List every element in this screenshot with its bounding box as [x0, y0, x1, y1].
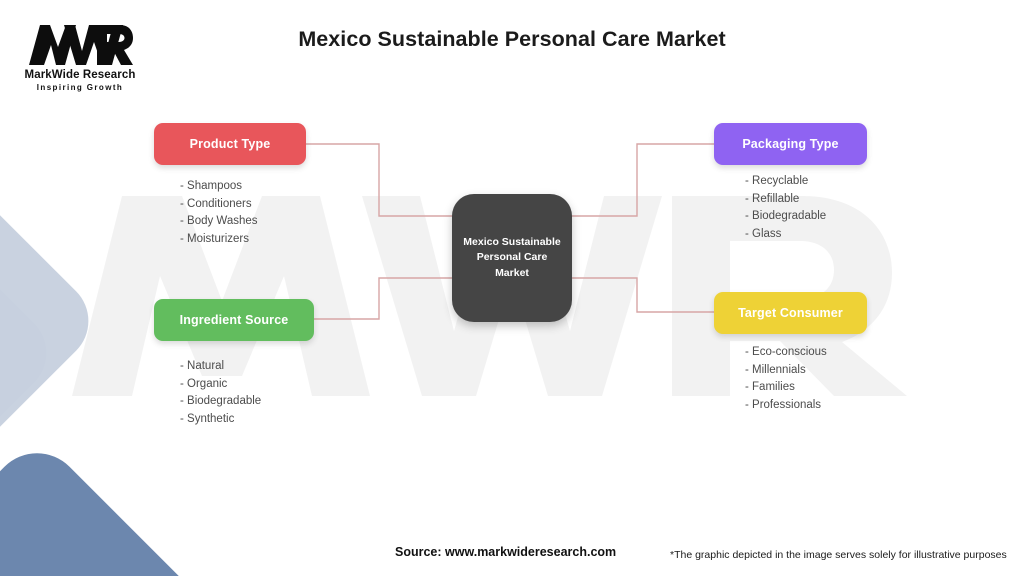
list-item: - Moisturizers — [180, 231, 258, 249]
list-item: - Millennials — [745, 362, 827, 380]
center-node-label: Mexico Sustainable Personal Care Market — [452, 235, 572, 281]
list-item: - Glass — [745, 226, 826, 244]
list-item: - Organic — [180, 376, 261, 394]
list-item: - Families — [745, 379, 827, 397]
list-item: - Body Washes — [180, 213, 258, 231]
list-item: - Recyclable — [745, 173, 826, 191]
branch-label-packaging-type: Packaging Type — [742, 137, 838, 151]
list-item: - Refillable — [745, 191, 826, 209]
list-item: - Natural — [180, 358, 261, 376]
diagram-canvas: MarkWide Research Inspiring Growth Mexic… — [0, 0, 1024, 576]
footer-source: Source: www.markwideresearch.com — [395, 545, 616, 559]
connector-ingredient-source — [314, 278, 452, 319]
center-node[interactable]: Mexico Sustainable Personal Care Market — [452, 194, 572, 322]
list-item: - Biodegradable — [745, 208, 826, 226]
footer-disclaimer: *The graphic depicted in the image serve… — [670, 549, 1007, 561]
branch-items-target-consumer: - Eco-conscious - Millennials - Families… — [745, 344, 827, 414]
branch-node-packaging-type[interactable]: Packaging Type — [714, 123, 867, 165]
branch-label-target-consumer: Target Consumer — [738, 306, 843, 320]
branch-items-product-type: - Shampoos - Conditioners - Body Washes … — [180, 178, 258, 248]
branch-items-ingredient-source: - Natural - Organic - Biodegradable - Sy… — [180, 358, 261, 428]
branch-label-product-type: Product Type — [190, 137, 271, 151]
branch-node-ingredient-source[interactable]: Ingredient Source — [154, 299, 314, 341]
connector-packaging-type — [572, 144, 714, 216]
list-item: - Shampoos — [180, 178, 258, 196]
list-item: - Professionals — [745, 397, 827, 415]
branch-label-ingredient-source: Ingredient Source — [180, 313, 289, 327]
list-item: - Eco-conscious — [745, 344, 827, 362]
list-item: - Synthetic — [180, 411, 261, 429]
branch-items-packaging-type: - Recyclable - Refillable - Biodegradabl… — [745, 173, 826, 243]
connector-target-consumer — [572, 278, 714, 312]
list-item: - Biodegradable — [180, 393, 261, 411]
branch-node-product-type[interactable]: Product Type — [154, 123, 306, 165]
branch-node-target-consumer[interactable]: Target Consumer — [714, 292, 867, 334]
connector-product-type — [306, 144, 452, 216]
list-item: - Conditioners — [180, 196, 258, 214]
